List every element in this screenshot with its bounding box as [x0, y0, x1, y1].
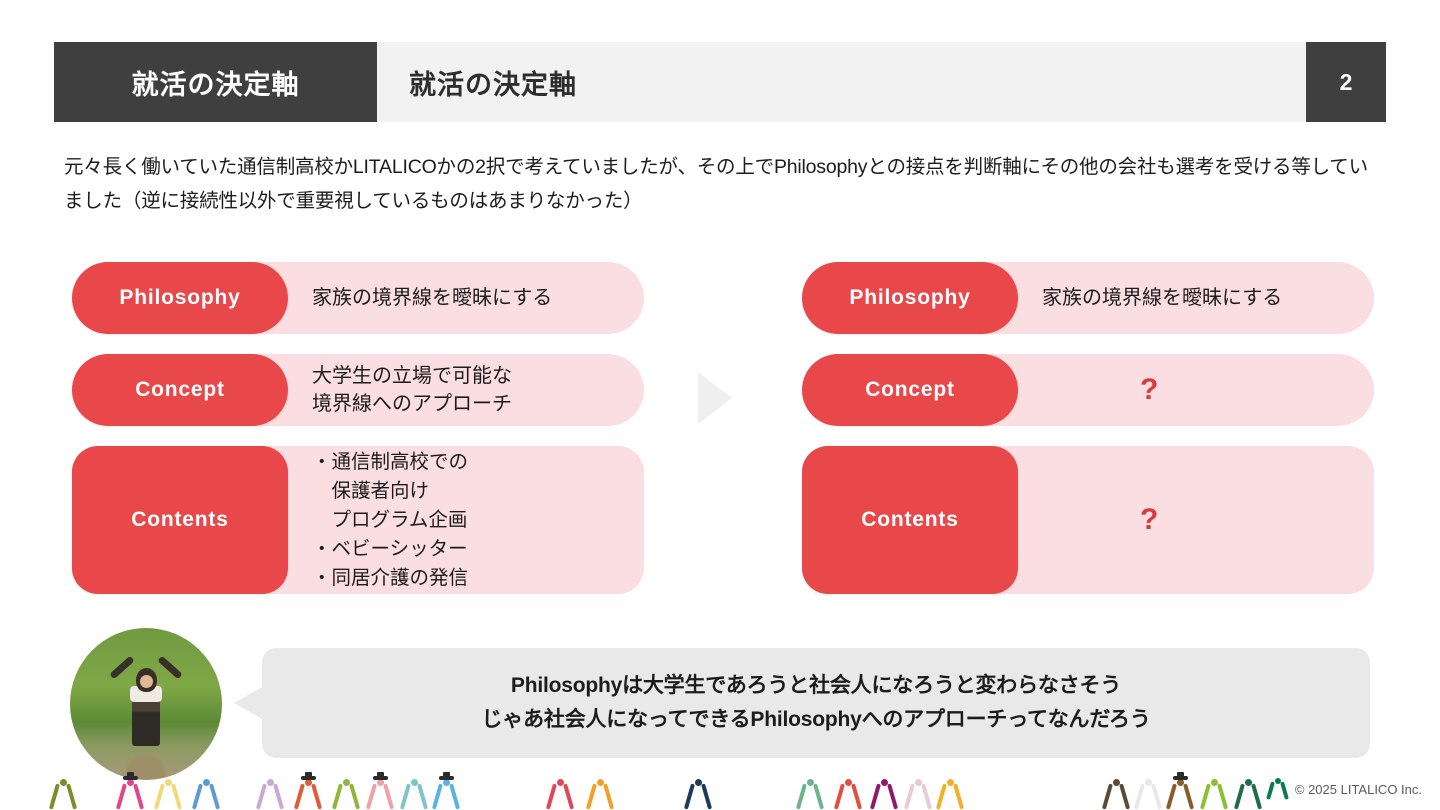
person-icon — [1172, 770, 1188, 810]
question-mark-placeholder: ? — [1140, 505, 1158, 535]
logo-head — [1275, 778, 1281, 784]
person-leg-left — [1200, 783, 1211, 809]
person-icon — [802, 770, 818, 810]
person-leg-left — [546, 783, 557, 809]
person-head — [947, 779, 954, 786]
person-head — [881, 779, 888, 786]
bullet-item: 保護者向け — [312, 477, 630, 506]
person-leg-left — [256, 783, 267, 809]
person-leg-right — [563, 783, 574, 809]
person-icon — [160, 770, 176, 810]
person-leg-right — [603, 783, 614, 809]
pill-label-concept: Concept — [72, 354, 288, 426]
person-leg-right — [1217, 783, 1228, 809]
text-line: 境界線へのアプローチ — [312, 390, 630, 418]
person-leg-left — [1234, 783, 1245, 809]
person-head — [1177, 779, 1184, 786]
right-row-concept-body: ? — [1042, 354, 1360, 426]
person-head — [203, 779, 210, 786]
right-framework-panel: Philosophy 家族の境界線を曖昧にする Concept ? Conten… — [802, 262, 1374, 614]
footer: © 2025 LITALICO Inc. — [1269, 778, 1422, 800]
person-leg-right — [311, 783, 322, 809]
photo-arm-right — [157, 656, 182, 680]
person-leg-left — [400, 783, 411, 809]
left-framework-panel: Philosophy 家族の境界線を曖昧にする Concept 大学生の立場で可… — [72, 262, 644, 614]
person-head — [1113, 779, 1120, 786]
person-leg-right — [209, 783, 220, 809]
person-icon — [942, 770, 958, 810]
person-icon — [372, 770, 388, 810]
person-hat-crown — [127, 772, 134, 777]
person-head — [557, 779, 564, 786]
person-icon — [438, 770, 454, 810]
speech-bubble: Philosophyは大学生であろうと社会人になろうと変わらなさそう じゃあ社会… — [262, 648, 1370, 758]
person-leg-right — [813, 783, 824, 809]
person-leg-left — [1166, 783, 1177, 809]
pill-label-concept: Concept — [802, 354, 1018, 426]
litalico-person-logo-icon — [1269, 778, 1287, 800]
pill-label-contents: Contents — [802, 446, 1018, 594]
person-leg-right — [349, 783, 360, 809]
header-section-tag: 就活の決定軸 — [54, 42, 377, 122]
person-icon — [198, 770, 214, 810]
person-icon — [910, 770, 926, 810]
bullet-item: ・ベビーシッター — [312, 535, 630, 564]
person-head — [1245, 779, 1252, 786]
person-head — [695, 779, 702, 786]
person-icon — [1140, 770, 1156, 810]
person-leg-left — [294, 783, 305, 809]
person-head — [127, 779, 134, 786]
person-icon — [338, 770, 354, 810]
person-head — [377, 779, 384, 786]
person-leg-left — [1134, 783, 1145, 809]
logo-leg-right — [1280, 781, 1289, 799]
person-leg-right — [921, 783, 932, 809]
left-row-concept-body: 大学生の立場で可能な 境界線へのアプローチ — [312, 354, 630, 426]
left-row-concept: Concept 大学生の立場で可能な 境界線へのアプローチ — [72, 354, 644, 426]
speech-line-2: じゃあ社会人になってできるPhilosophyへのアプローチってなんだろう — [482, 703, 1151, 737]
person-icon — [1240, 770, 1256, 810]
person-leg-right — [66, 783, 77, 809]
person-leg-right — [851, 783, 862, 809]
person-head — [915, 779, 922, 786]
triangle-right-icon — [698, 372, 732, 424]
text-line: 家族の境界線を曖昧にする — [1042, 284, 1360, 312]
person-head — [1211, 779, 1218, 786]
person-leg-right — [449, 783, 460, 809]
right-row-philosophy-body: 家族の境界線を曖昧にする — [1042, 262, 1360, 334]
person-leg-left — [432, 783, 443, 809]
left-row-contents: Contents ・通信制高校での 保護者向け プログラム企画 ・ベビーシッター… — [72, 446, 644, 594]
bullet-item: ・同居介護の発信 — [312, 564, 630, 593]
speech-line-1: Philosophyは大学生であろうと社会人になろうと変わらなさそう — [511, 669, 1121, 703]
person-hat-crown — [377, 772, 384, 777]
person-head — [443, 779, 450, 786]
left-row-philosophy-body: 家族の境界線を曖昧にする — [312, 262, 630, 334]
person-icon — [406, 770, 422, 810]
person-head — [845, 779, 852, 786]
speech-bubble-tail — [234, 686, 264, 720]
person-leg-left — [366, 783, 377, 809]
right-row-concept: Concept ? — [802, 354, 1374, 426]
person-head — [411, 779, 418, 786]
photo-arm-left — [109, 656, 134, 680]
person-head — [165, 779, 172, 786]
right-row-contents-body: ? — [1042, 446, 1360, 594]
person-head — [597, 779, 604, 786]
copyright-text: © 2025 LITALICO Inc. — [1295, 782, 1422, 797]
person-leg-right — [887, 783, 898, 809]
person-icon — [262, 770, 278, 810]
person-icon — [122, 770, 138, 810]
slide-header: 就活の決定軸 就活の決定軸 2 — [54, 42, 1386, 122]
person-leg-left — [154, 783, 165, 809]
person-leg-right — [1183, 783, 1194, 809]
right-row-philosophy: Philosophy 家族の境界線を曖昧にする — [802, 262, 1374, 334]
person-leg-left — [586, 783, 597, 809]
pill-label-contents: Contents — [72, 446, 288, 594]
avatar — [70, 628, 222, 780]
person-icon — [552, 770, 568, 810]
person-head — [305, 779, 312, 786]
person-leg-left — [49, 783, 60, 809]
text-line: 家族の境界線を曖昧にする — [312, 284, 630, 312]
person-leg-left — [116, 783, 127, 809]
left-row-philosophy: Philosophy 家族の境界線を曖昧にする — [72, 262, 644, 334]
person-leg-right — [953, 783, 964, 809]
person-head — [1145, 779, 1152, 786]
person-leg-right — [1151, 783, 1162, 809]
slide: 就活の決定軸 就活の決定軸 2 元々長く働いていた通信制高校かLITALICOか… — [0, 0, 1440, 810]
question-mark-placeholder: ? — [1140, 375, 1158, 405]
person-leg-left — [936, 783, 947, 809]
pill-label-philosophy: Philosophy — [72, 262, 288, 334]
person-leg-right — [171, 783, 182, 809]
person-head — [267, 779, 274, 786]
left-row-contents-body: ・通信制高校での 保護者向け プログラム企画 ・ベビーシッター ・同居介護の発信 — [312, 446, 630, 594]
person-head — [807, 779, 814, 786]
person-leg-left — [332, 783, 343, 809]
right-row-contents: Contents ? — [802, 446, 1374, 594]
person-leg-left — [1102, 783, 1113, 809]
person-hat-crown — [305, 772, 312, 777]
person-icon — [1108, 770, 1124, 810]
person-icon — [840, 770, 856, 810]
person-leg-left — [796, 783, 807, 809]
page-number-badge: 2 — [1306, 42, 1386, 122]
person-icon — [690, 770, 706, 810]
person-leg-left — [904, 783, 915, 809]
person-icon — [592, 770, 608, 810]
person-icon — [1206, 770, 1222, 810]
person-leg-left — [192, 783, 203, 809]
person-leg-left — [834, 783, 845, 809]
people-decoration-strip — [0, 768, 1440, 810]
pill-label-philosophy: Philosophy — [802, 262, 1018, 334]
person-leg-left — [870, 783, 881, 809]
person-head — [60, 779, 67, 786]
bullet-item: プログラム企画 — [312, 506, 630, 535]
text-line: 大学生の立場で可能な — [312, 362, 630, 390]
person-leg-right — [273, 783, 284, 809]
person-icon — [300, 770, 316, 810]
person-leg-right — [701, 783, 712, 809]
person-leg-right — [383, 783, 394, 809]
person-leg-right — [1251, 783, 1262, 809]
person-hat-crown — [1177, 772, 1184, 777]
person-leg-right — [133, 783, 144, 809]
person-icon — [55, 770, 71, 810]
person-head — [343, 779, 350, 786]
person-leg-left — [684, 783, 695, 809]
person-hat-crown — [443, 772, 450, 777]
lead-paragraph: 元々長く働いていた通信制高校かLITALICOかの2択で考えていましたが、その上… — [64, 150, 1384, 218]
bullet-item: ・通信制高校での — [312, 448, 630, 477]
person-leg-right — [417, 783, 428, 809]
person-leg-right — [1119, 783, 1130, 809]
photo-face — [140, 675, 153, 688]
person-icon — [876, 770, 892, 810]
page-title: 就活の決定軸 — [377, 42, 1306, 122]
